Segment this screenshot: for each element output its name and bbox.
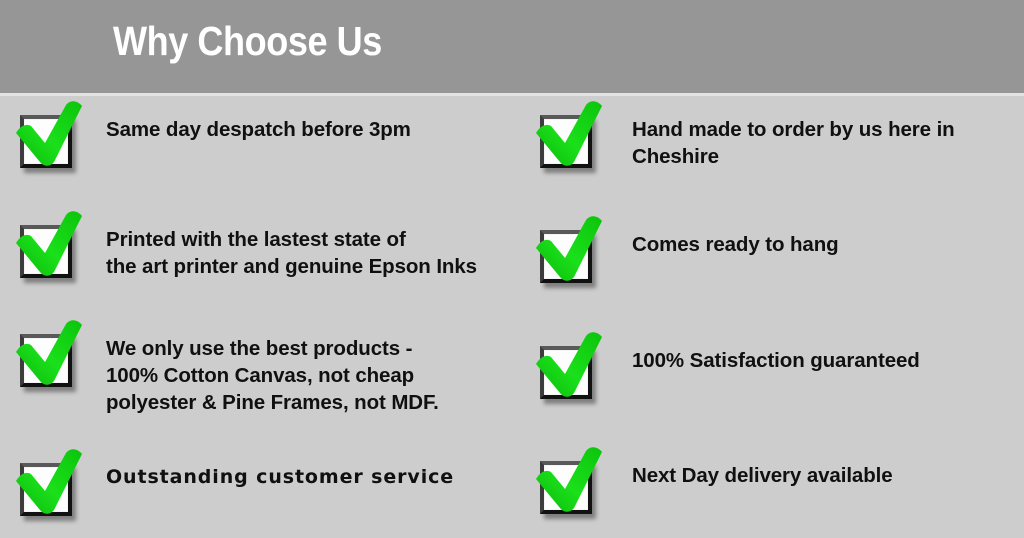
list-item: Outstanding customer service [14, 450, 454, 516]
list-item-label: Printed with the lastest state of the ar… [106, 212, 477, 280]
check-mark-icon [534, 217, 608, 283]
check-mark-icon [14, 450, 88, 516]
list-item: 100% Satisfaction guaranteed [534, 333, 920, 399]
check-mark-icon [14, 321, 88, 387]
list-item-label: Next Day delivery available [632, 448, 893, 489]
green-check-box-icon [534, 102, 608, 168]
list-item: Hand made to order by us here in Cheshir… [534, 102, 955, 170]
green-check-box-icon [14, 102, 88, 168]
check-mark-icon [14, 102, 88, 168]
list-item-label: Hand made to order by us here in Cheshir… [632, 102, 955, 170]
list-item: Printed with the lastest state of the ar… [14, 212, 477, 280]
green-check-box-icon [14, 212, 88, 278]
green-check-box-icon [534, 448, 608, 514]
list-item-label: Outstanding customer service [106, 450, 454, 491]
list-item: We only use the best products - 100% Cot… [14, 321, 439, 416]
header-column-right: Why Choose Us [512, 0, 1024, 93]
header-column-left: Why Choose Us [0, 0, 512, 93]
green-check-box-icon [14, 321, 88, 387]
check-mark-icon [534, 448, 608, 514]
green-check-box-icon [14, 450, 88, 516]
why-choose-us-banner: Why Choose Us Why Choose Us [0, 0, 1024, 538]
green-check-box-icon [534, 217, 608, 283]
list-item-label: Comes ready to hang [632, 217, 839, 258]
feature-columns: Same day despatch before 3pm Printed wit… [0, 93, 1024, 538]
green-check-box-icon [534, 333, 608, 399]
list-item: Next Day delivery available [534, 448, 893, 514]
feature-column-right: Hand made to order by us here in Cheshir… [512, 93, 1024, 538]
check-mark-icon [534, 102, 608, 168]
list-item: Comes ready to hang [534, 217, 839, 283]
list-item-label: We only use the best products - 100% Cot… [106, 321, 439, 416]
check-mark-icon [534, 333, 608, 399]
list-item-label: Same day despatch before 3pm [106, 102, 411, 143]
header-band: Why Choose Us Why Choose Us [0, 0, 1024, 93]
check-mark-icon [14, 212, 88, 278]
feature-column-left: Same day despatch before 3pm Printed wit… [0, 93, 512, 538]
page-title-left: Why Choose Us [113, 17, 382, 65]
list-item: Same day despatch before 3pm [14, 102, 411, 168]
list-item-label: 100% Satisfaction guaranteed [632, 333, 920, 374]
